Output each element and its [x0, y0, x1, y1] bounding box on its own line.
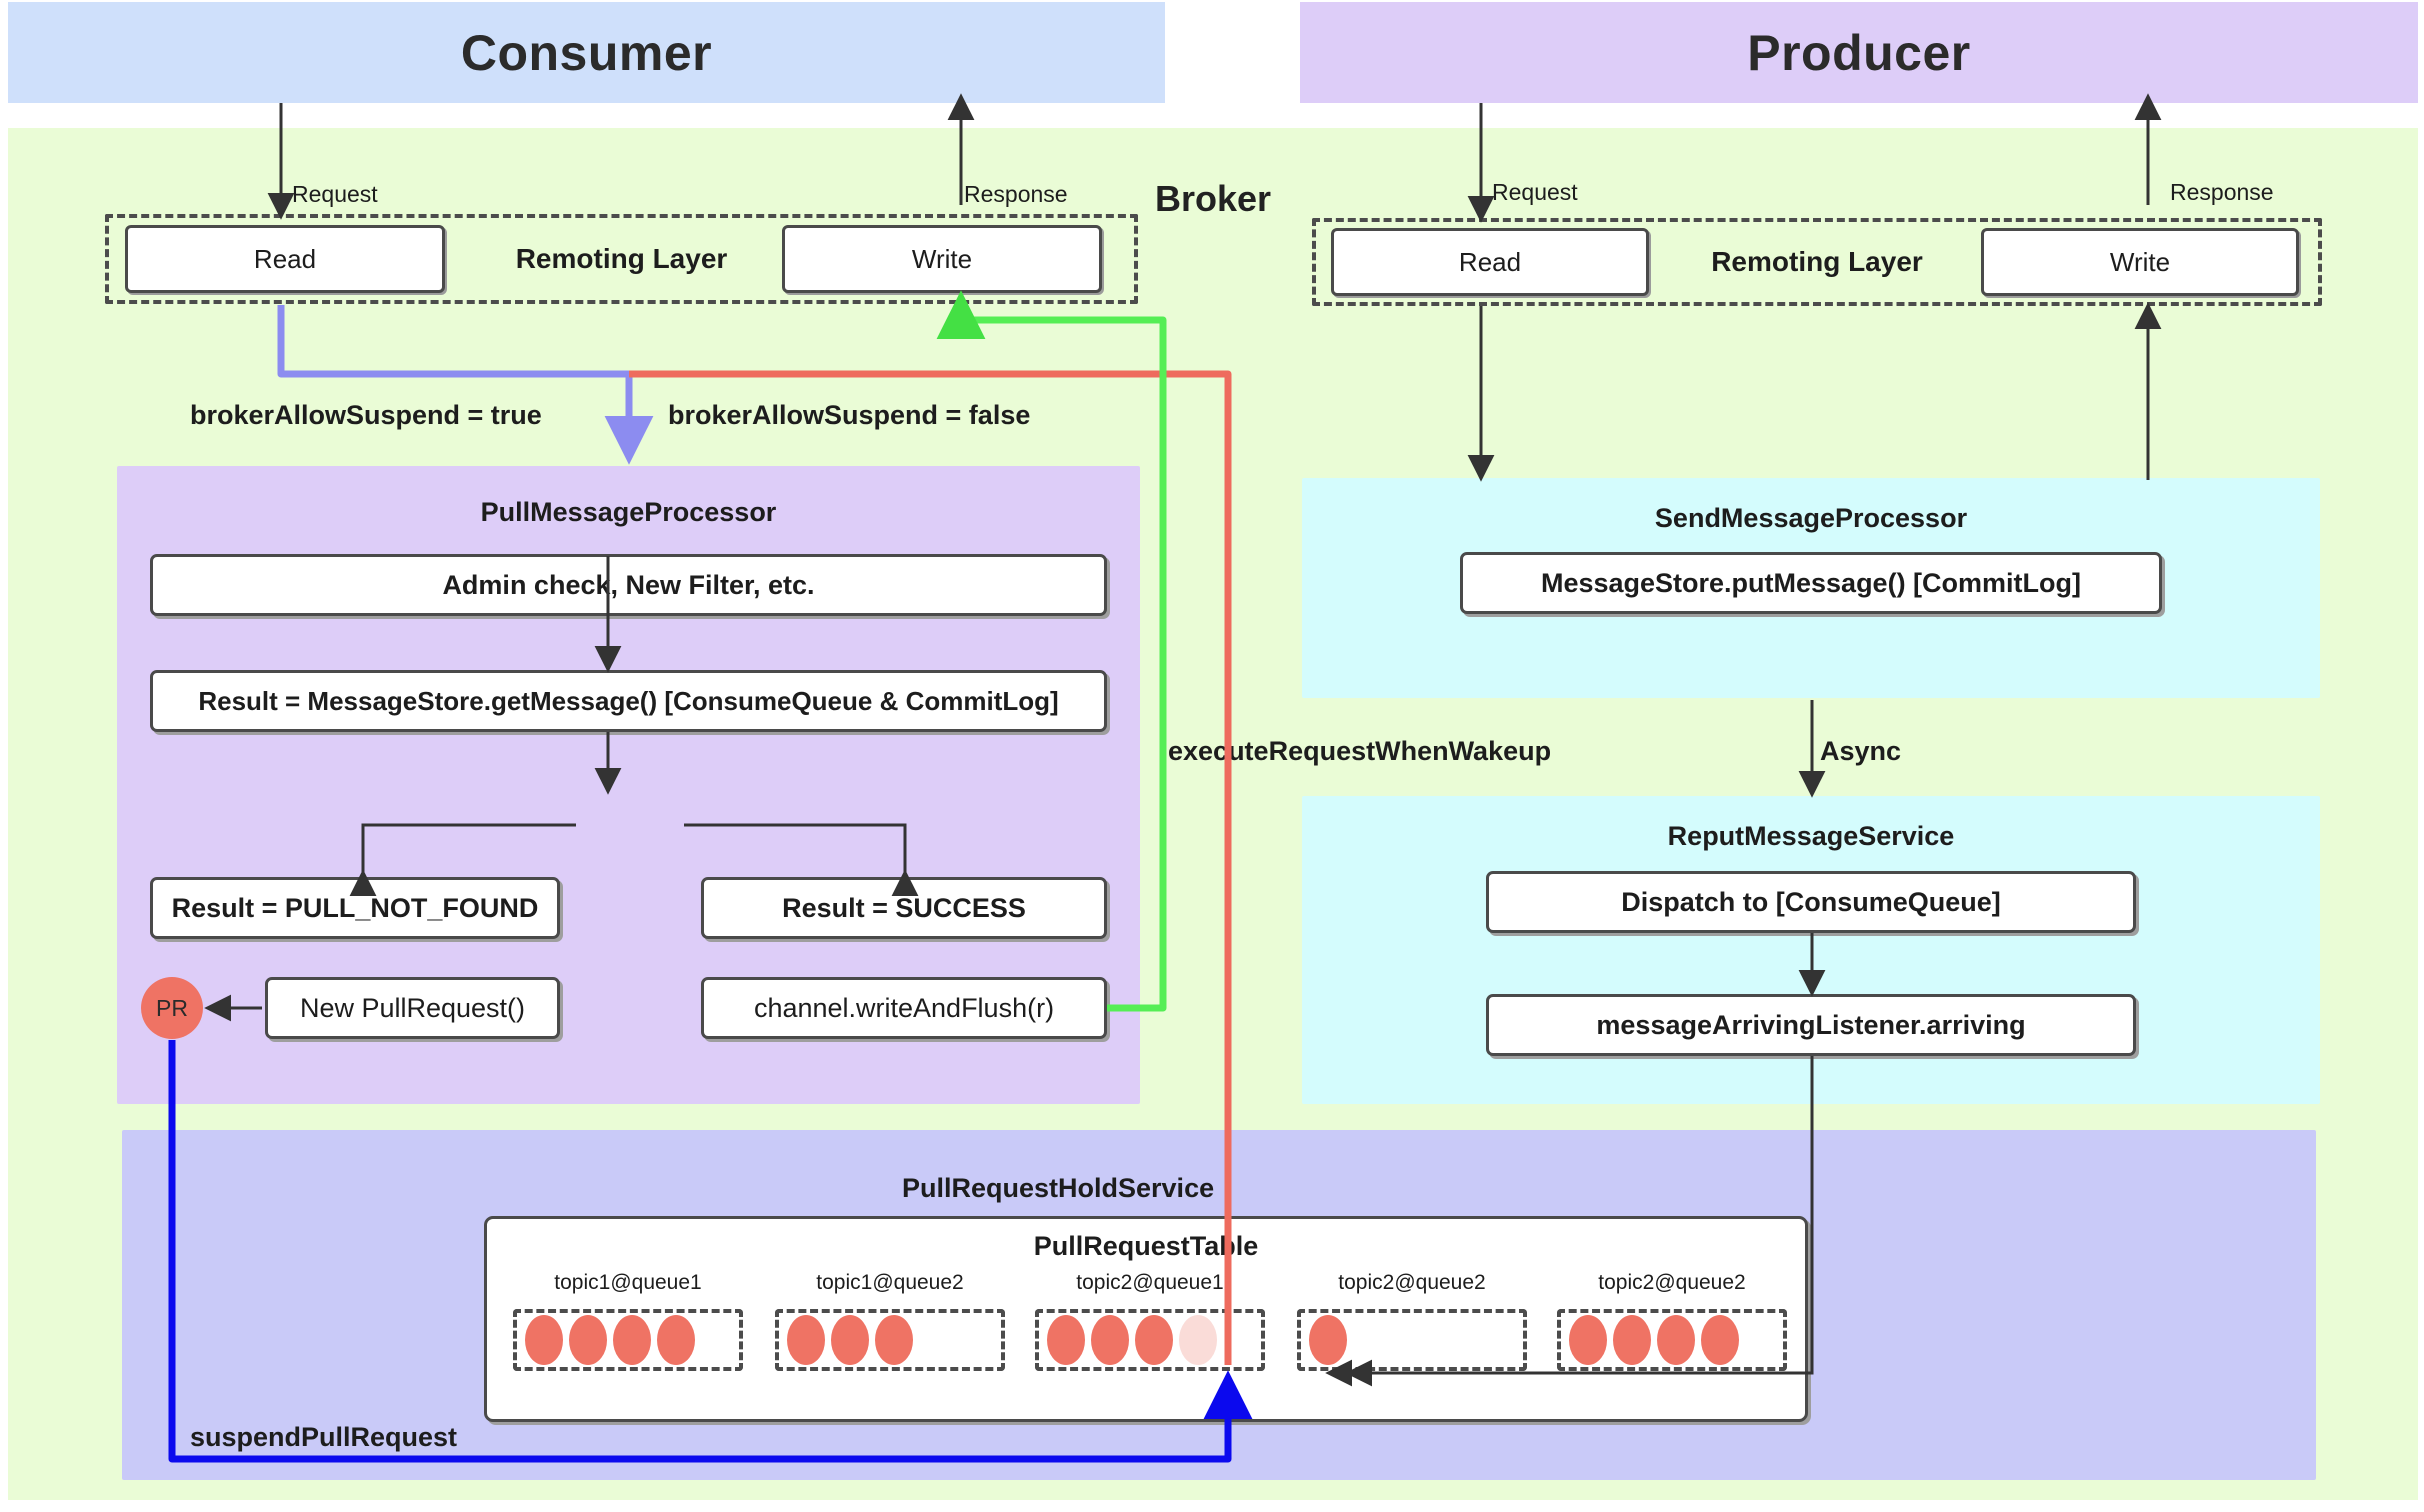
- consumer-lane: Consumer: [8, 2, 1165, 103]
- producer-request-label: Request: [1492, 179, 1578, 206]
- consumer-write-box[interactable]: Write: [782, 225, 1102, 293]
- node-new-pull-request[interactable]: New PullRequest(): [265, 977, 560, 1039]
- edge-label-suspend-false: brokerAllowSuspend = false: [668, 400, 1030, 431]
- pull-request-dot[interactable]: [1091, 1315, 1129, 1365]
- queue-group-4-label: topic2@queue2: [1598, 1271, 1745, 1295]
- edge-label-async: Async: [1820, 736, 1901, 767]
- send-message-processor-title: SendMessageProcessor: [1655, 503, 1967, 534]
- edge-label-suspend-true: brokerAllowSuspend = true: [190, 400, 542, 431]
- producer-response-label: Response: [2170, 179, 2274, 206]
- pull-request-dot[interactable]: [1309, 1315, 1347, 1365]
- edge-label-suspend-pull-request: suspendPullRequest: [190, 1422, 457, 1453]
- queue-group-1: topic1@queue2: [775, 1309, 1005, 1371]
- queue-group-4: topic2@queue2: [1557, 1309, 1787, 1371]
- reput-message-service-title: ReputMessageService: [1668, 821, 1955, 852]
- queue-group-3-label: topic2@queue2: [1338, 1271, 1485, 1295]
- pull-request-dot[interactable]: [525, 1315, 563, 1365]
- pull-request-table: PullRequestTable topic1@queue1 topic1@qu…: [484, 1216, 1808, 1422]
- queue-group-3: topic2@queue2: [1297, 1309, 1527, 1371]
- node-get-message[interactable]: Result = MessageStore.getMessage() [Cons…: [150, 670, 1107, 732]
- consumer-read-box[interactable]: Read: [125, 225, 445, 293]
- pull-request-dot[interactable]: [1135, 1315, 1173, 1365]
- edge-label-execute-request-when-wakeup: executeRequestWhenWakeup: [1168, 736, 1551, 767]
- send-message-processor-container: SendMessageProcessor MessageStore.putMes…: [1302, 478, 2320, 698]
- pull-request-table-title: PullRequestTable: [1034, 1231, 1259, 1262]
- node-success[interactable]: Result = SUCCESS: [701, 877, 1107, 939]
- pull-request-dot[interactable]: [787, 1315, 825, 1365]
- consumer-response-label: Response: [964, 181, 1068, 208]
- queue-group-0: topic1@queue1: [513, 1309, 743, 1371]
- pull-request-dot[interactable]: [1047, 1315, 1085, 1365]
- queue-group-2-label: topic2@queue1: [1076, 1271, 1223, 1295]
- node-admin-check[interactable]: Admin check, New Filter, etc.: [150, 554, 1107, 616]
- node-write-and-flush[interactable]: channel.writeAndFlush(r): [701, 977, 1107, 1039]
- broker-label: Broker: [1155, 178, 1271, 220]
- pull-request-dot[interactable]: [1701, 1315, 1739, 1365]
- queue-group-2-box[interactable]: [1035, 1309, 1265, 1371]
- consumer-request-label: Request: [292, 181, 378, 208]
- queue-group-1-box[interactable]: [775, 1309, 1005, 1371]
- pull-request-node[interactable]: PR: [141, 977, 203, 1039]
- pull-request-dot[interactable]: [1613, 1315, 1651, 1365]
- pull-message-processor-title: PullMessageProcessor: [481, 497, 777, 528]
- node-pull-not-found[interactable]: Result = PULL_NOT_FOUND: [150, 877, 560, 939]
- pull-request-dot[interactable]: [875, 1315, 913, 1365]
- pull-request-dot[interactable]: [831, 1315, 869, 1365]
- pull-request-node-label: PR: [156, 995, 188, 1022]
- pull-message-processor-container: PullMessageProcessor Admin check, New Fi…: [117, 466, 1140, 1104]
- node-dispatch-to-consumequeue[interactable]: Dispatch to [ConsumeQueue]: [1486, 871, 2136, 933]
- producer-lane-title: Producer: [1300, 2, 2418, 103]
- pull-request-dot[interactable]: [657, 1315, 695, 1365]
- consumer-lane-title: Consumer: [8, 2, 1165, 103]
- queue-group-2: topic2@queue1: [1035, 1309, 1265, 1371]
- pull-request-dot[interactable]: [613, 1315, 651, 1365]
- queue-group-0-label: topic1@queue1: [554, 1271, 701, 1295]
- pull-request-dot[interactable]: [1569, 1315, 1607, 1365]
- queue-group-4-box[interactable]: [1557, 1309, 1787, 1371]
- remoting-layer-producer-title: Remoting Layer: [1711, 246, 1923, 278]
- queue-group-1-label: topic1@queue2: [816, 1271, 963, 1295]
- producer-lane: Producer: [1300, 2, 2418, 103]
- node-put-message[interactable]: MessageStore.putMessage() [CommitLog]: [1460, 552, 2162, 614]
- node-message-arriving-listener[interactable]: messageArrivingListener.arriving: [1486, 994, 2136, 1056]
- queue-group-3-box[interactable]: [1297, 1309, 1527, 1371]
- remoting-layer-producer: Read Remoting Layer Write: [1312, 218, 2322, 306]
- pull-request-dot[interactable]: [569, 1315, 607, 1365]
- reput-message-service-container: ReputMessageService Dispatch to [Consume…: [1302, 796, 2320, 1104]
- remoting-layer-consumer-title: Remoting Layer: [516, 243, 728, 275]
- queue-group-0-box[interactable]: [513, 1309, 743, 1371]
- pull-request-dot[interactable]: [1657, 1315, 1695, 1365]
- pull-request-dot-pending[interactable]: [1179, 1315, 1217, 1365]
- remoting-layer-consumer: Read Remoting Layer Write: [105, 214, 1138, 304]
- producer-write-box[interactable]: Write: [1981, 228, 2299, 296]
- producer-read-box[interactable]: Read: [1331, 228, 1649, 296]
- pull-request-hold-service-title: PullRequestHoldService: [902, 1173, 1214, 1204]
